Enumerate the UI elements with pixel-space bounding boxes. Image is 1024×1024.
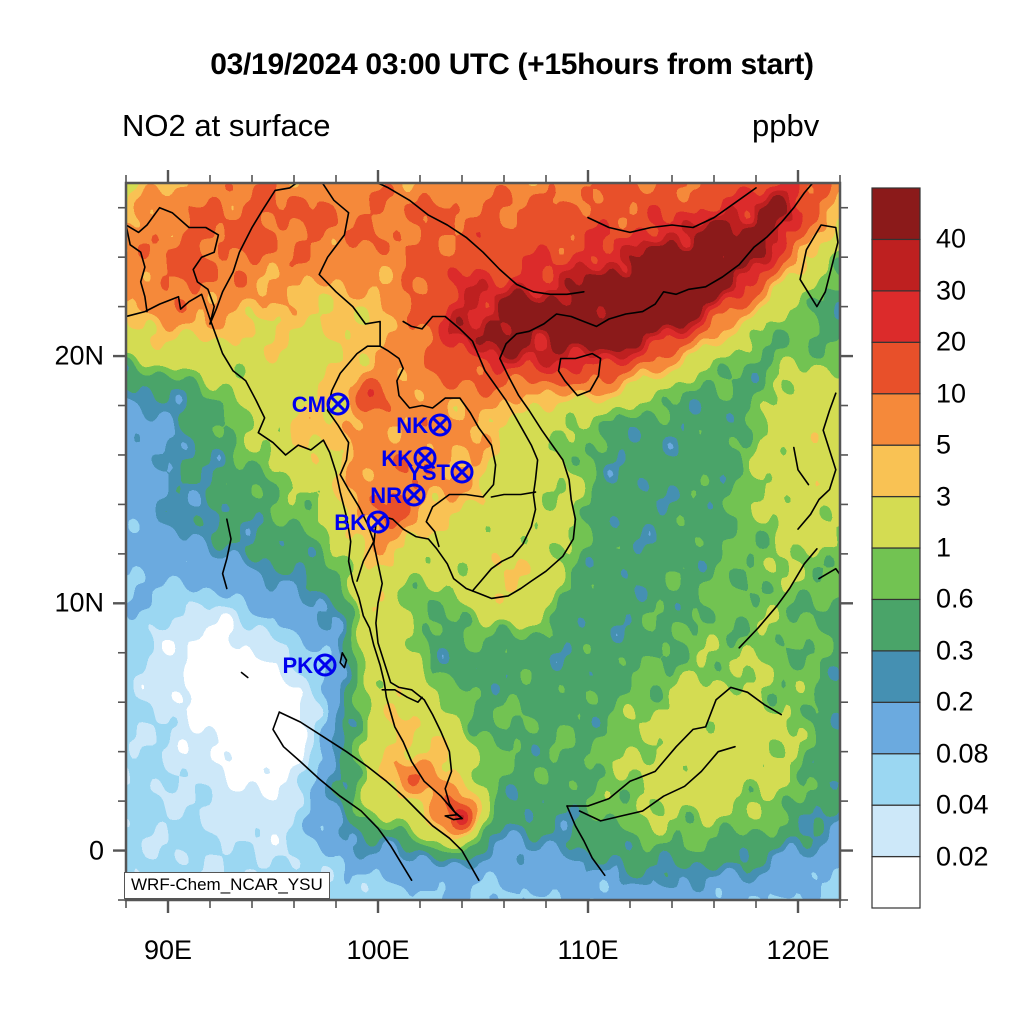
colorbar-swatch — [872, 394, 920, 445]
contour-field — [126, 158, 846, 900]
station-label: PK — [282, 653, 313, 678]
x-tick-label-100e: 100E — [346, 935, 409, 966]
colorbar-swatch — [872, 805, 920, 856]
y-tick-label-0: 0 — [89, 835, 104, 866]
colorbar-swatch — [872, 445, 920, 496]
colorbar-tick-label: 0.6 — [936, 584, 974, 615]
colorbar-swatch — [872, 497, 920, 548]
station-label: YST — [407, 460, 450, 485]
station-label: BK — [334, 510, 366, 535]
y-tick-label-10n: 10N — [54, 588, 104, 619]
colorbar-tick-label: 0.08 — [936, 738, 989, 769]
colorbar-tick-label: 5 — [936, 430, 951, 461]
colorbar-tick-label: 10 — [936, 378, 966, 409]
colorbar-tick-label: 0.2 — [936, 687, 974, 718]
x-tick-label-120e: 120E — [766, 935, 829, 966]
colorbar-tick-label: 1 — [936, 533, 951, 564]
colorbar-tick-label: 20 — [936, 327, 966, 358]
colorbar-swatch — [872, 188, 920, 239]
colorbar-swatch — [872, 239, 920, 290]
colorbar-tick-label: 0.3 — [936, 635, 974, 666]
colorbar-swatch — [872, 291, 920, 342]
colorbar-swatch — [872, 651, 920, 702]
figure-root: 03/19/2024 03:00 UTC (+15hours from star… — [0, 0, 1024, 1024]
colorbar-swatch — [872, 857, 920, 908]
map-plot: CMNKKKYSTNRBKPK — [0, 0, 1024, 1024]
colorbar-tick-label: 0.04 — [936, 790, 989, 821]
station-label: CM — [292, 392, 326, 417]
colorbar-tick-label: 3 — [936, 481, 951, 512]
station-label: NR — [370, 483, 402, 508]
station-marker-pk[interactable]: PK — [282, 653, 335, 678]
station-label: NK — [396, 413, 428, 438]
colorbar-tick-label: 40 — [936, 224, 966, 255]
colorbar-tick-label: 30 — [936, 275, 966, 306]
colorbar-swatch — [872, 599, 920, 650]
y-tick-label-20n: 20N — [54, 341, 104, 372]
colorbar-swatch — [872, 754, 920, 805]
model-watermark: WRF-Chem_NCAR_YSU — [124, 872, 330, 899]
colorbar-swatch — [872, 548, 920, 599]
x-tick-label-110e: 110E — [557, 935, 618, 966]
colorbar-swatch — [872, 342, 920, 393]
colorbar-tick-label: 0.02 — [936, 841, 989, 872]
colorbar-swatch — [872, 702, 920, 753]
x-tick-label-90e: 90E — [144, 935, 192, 966]
colorbar — [872, 188, 920, 908]
